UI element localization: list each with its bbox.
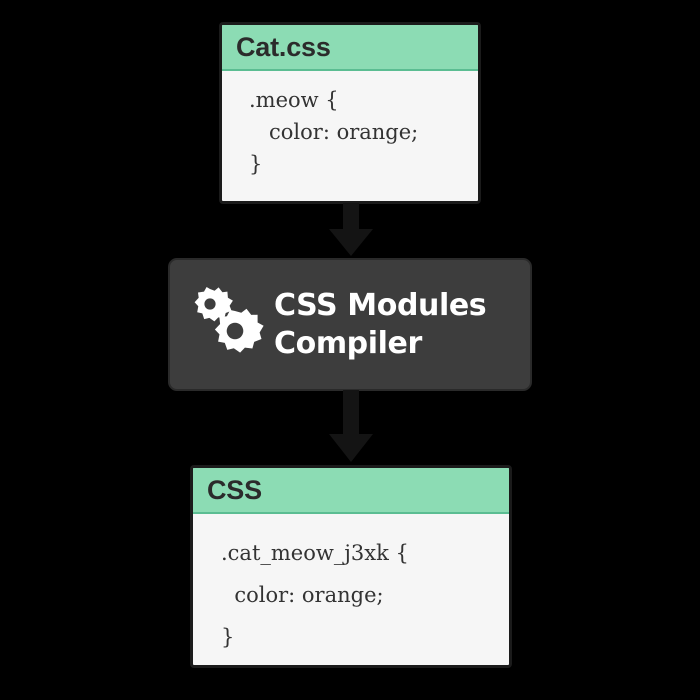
source-file-card-header: Cat.css	[222, 25, 478, 71]
code-line: color: orange;	[221, 574, 509, 616]
code-line: }	[221, 616, 509, 658]
source-file-code-body: .meow { color: orange; }	[222, 71, 478, 180]
code-line: color: orange;	[249, 116, 478, 148]
source-file-card: Cat.css .meow { color: orange; }	[219, 22, 481, 204]
output-file-card: CSS .cat_meow_j3xk { color: orange; }	[190, 465, 512, 668]
compiler-label: CSS Modules Compiler	[274, 287, 486, 363]
gears-icon	[188, 285, 266, 365]
code-line: .meow {	[249, 84, 478, 116]
arrow-compiler-to-output-icon	[325, 390, 377, 466]
diagram-canvas: Cat.css .meow { color: orange; }	[0, 0, 700, 700]
output-file-code-body: .cat_meow_j3xk { color: orange; }	[193, 514, 509, 658]
arrow-source-to-compiler-icon	[325, 203, 377, 259]
compiler-node: CSS Modules Compiler	[168, 258, 532, 391]
source-file-title: Cat.css	[236, 32, 331, 63]
code-line: }	[249, 148, 478, 180]
output-file-title: CSS	[207, 475, 262, 506]
output-file-card-header: CSS	[193, 468, 509, 514]
code-line: .cat_meow_j3xk {	[221, 532, 509, 574]
